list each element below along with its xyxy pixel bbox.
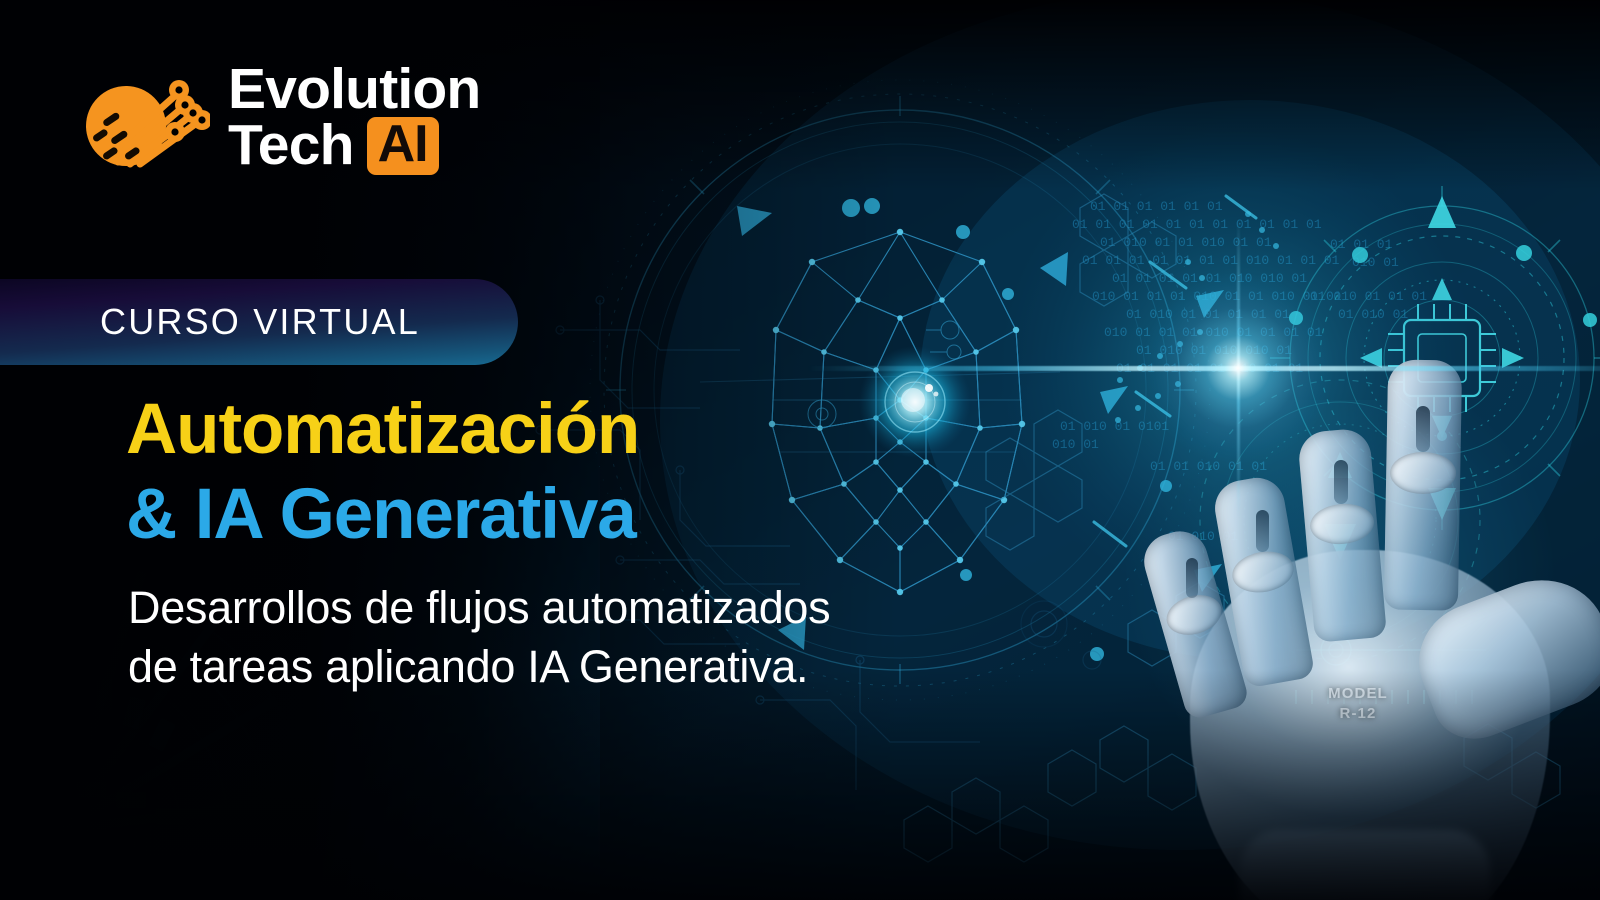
course-type-label: CURSO VIRTUAL [100, 301, 420, 343]
subtitle-line-1: Desarrollos de flujos automatizados [128, 578, 830, 637]
brand-wordmark: Evolution Tech AI [228, 62, 480, 175]
brand-line-evolution: Evolution [228, 62, 480, 117]
brand-word-tech: Tech [228, 118, 354, 173]
circuit-node-icon [78, 64, 210, 172]
headline-line-1: Automatización [126, 387, 639, 472]
brand-logo[interactable]: Evolution Tech AI [78, 62, 480, 175]
course-type-badge: CURSO VIRTUAL [0, 279, 518, 365]
promo-banner: 01 01 01 01 01 01 01 01 01 01 01 01 01 0… [0, 0, 1600, 900]
page-title: Automatización & IA Generativa [126, 387, 639, 557]
brand-line-tech-ai: Tech AI [228, 117, 480, 175]
ai-badge: AI [367, 117, 439, 175]
page-subtitle: Desarrollos de flujos automatizados de t… [128, 578, 830, 697]
banner-content: Evolution Tech AI CURSO VIRTUAL Automati… [0, 0, 1600, 900]
headline-line-2: & IA Generativa [126, 472, 639, 557]
subtitle-line-2: de tareas aplicando IA Generativa. [128, 637, 830, 696]
